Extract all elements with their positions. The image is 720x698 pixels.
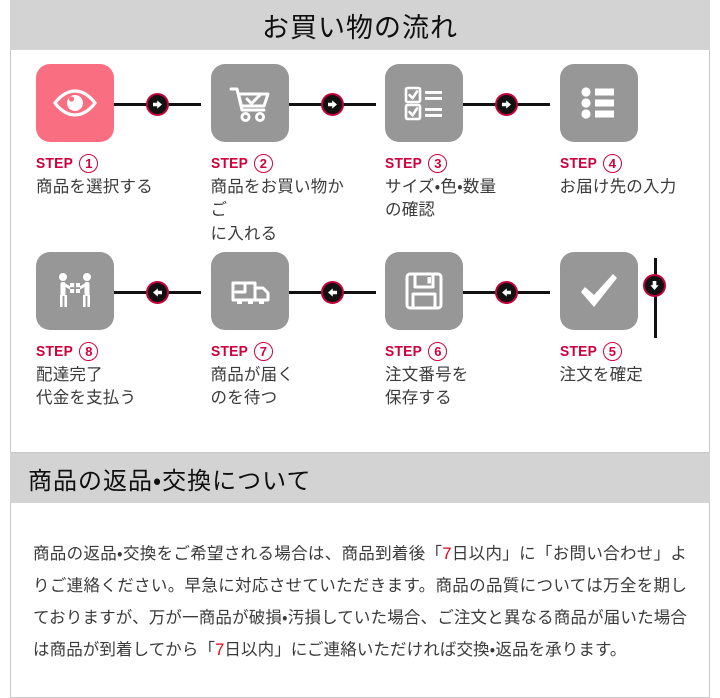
step-word-5: STEP (560, 343, 597, 360)
flow-section-header: お買い物の流れ (10, 0, 710, 50)
returns-text-part1: 商品の返品・交換をご希望される場合は、商品到着後「 (33, 545, 442, 563)
flow-step-1[interactable]: STEP 1 商品を選択する (11, 64, 186, 252)
flow-section-title: お買い物の流れ (262, 6, 458, 45)
step-tile-8 (36, 252, 114, 330)
step-label-4: STEP 4 (560, 153, 710, 173)
vertical-connector-line (654, 258, 657, 338)
step-word-4: STEP (560, 155, 597, 172)
step-desc-5: 注文を確定 (560, 364, 710, 387)
step-desc-2: 商品をお買い物かご に入れる (211, 176, 361, 246)
step-number-8: 8 (79, 342, 98, 361)
step-word-6: STEP (385, 343, 422, 360)
step-label-1: STEP 1 (36, 153, 186, 173)
arrow-down-icon (643, 274, 666, 297)
step-number-1: 1 (79, 154, 98, 173)
flow-step-2[interactable]: STEP 2 商品をお買い物かご に入れる (186, 64, 361, 252)
step-desc-8: 配達完了 代金を支払う (36, 364, 186, 411)
step-number-7: 7 (254, 342, 273, 361)
shopping-guide-page: お買い物の流れ (0, 0, 720, 672)
step-tile-6 (385, 252, 463, 330)
checkmark-icon (573, 265, 625, 317)
checklist-icon (400, 79, 448, 127)
flow-step-3[interactable]: STEP 3 サイズ・色・数量 の確認 (360, 64, 535, 252)
step-desc-3: サイズ・色・数量 の確認 (385, 176, 535, 223)
returns-highlight-1: 7 (442, 545, 451, 563)
step-desc-1: 商品を選択する (36, 176, 186, 199)
step-tile-4 (560, 64, 638, 142)
step-label-7: STEP 7 (211, 341, 361, 361)
step-label-3: STEP 3 (385, 153, 535, 173)
step-label-8: STEP 8 (36, 341, 186, 361)
bullet-list-icon (575, 79, 623, 127)
step-desc-4: お届け先の入力 (560, 176, 710, 199)
returns-panel: 商品の返品・交換をご希望される場合は、商品到着後「7日以内」に「お問い合わせ」よ… (10, 503, 710, 698)
arrow-left-icon (146, 281, 169, 304)
flow-row-2: STEP 8 配達完了 代金を支払う (11, 252, 709, 442)
step-word-2: STEP (211, 155, 248, 172)
flow-step-7[interactable]: STEP 7 商品が届く のを待つ (186, 252, 361, 442)
step-label-6: STEP 6 (385, 341, 535, 361)
step-word-3: STEP (385, 155, 422, 172)
step-number-2: 2 (254, 154, 273, 173)
step-tile-2 (211, 64, 289, 142)
flow-panel: STEP 1 商品を選択する (10, 50, 710, 453)
step-tile-7 (211, 252, 289, 330)
step-tile-3 (385, 64, 463, 142)
flow-step-6[interactable]: STEP 6 注文番号を 保存する (360, 252, 535, 442)
step-desc-7: 商品が届く のを待つ (211, 364, 361, 411)
step-tile-1 (36, 64, 114, 142)
flow-step-4[interactable]: STEP 4 お届け先の入力 (535, 64, 710, 252)
step-number-6: 6 (428, 342, 447, 361)
shopping-cart-icon (225, 78, 275, 128)
eye-icon (50, 78, 100, 128)
flow-step-5[interactable]: STEP 5 注文を確定 (535, 252, 710, 442)
arrow-right-icon (495, 93, 518, 116)
returns-section-title: 商品の返品・交換について (28, 461, 311, 496)
handover-icon (50, 266, 100, 316)
returns-text-part3: 日以内」にご連絡いただければ交換・返品を承ります。 (224, 641, 626, 659)
flow-row-1: STEP 1 商品を選択する (11, 64, 709, 252)
step-number-3: 3 (428, 154, 447, 173)
flow-step-8[interactable]: STEP 8 配達完了 代金を支払う (11, 252, 186, 442)
step-number-5: 5 (603, 342, 622, 361)
returns-paragraph: 商品の返品・交換をご希望される場合は、商品到着後「7日以内」に「お問い合わせ」よ… (33, 538, 687, 667)
returns-highlight-2: 7 (215, 641, 224, 659)
returns-section-header: 商品の返品・交換について (10, 453, 710, 503)
step-label-5: STEP 5 (560, 341, 710, 361)
step-desc-6: 注文番号を 保存する (385, 364, 535, 411)
arrow-left-icon (495, 281, 518, 304)
step-label-2: STEP 2 (211, 153, 361, 173)
arrow-left-icon (321, 281, 344, 304)
floppy-disk-icon (401, 268, 447, 314)
arrow-right-icon (321, 93, 344, 116)
step-tile-5 (560, 252, 638, 330)
step-word-1: STEP (36, 155, 73, 172)
step-word-8: STEP (36, 343, 73, 360)
delivery-truck-icon (225, 266, 275, 316)
arrow-right-icon (146, 93, 169, 116)
step-number-4: 4 (603, 154, 622, 173)
step-word-7: STEP (211, 343, 248, 360)
